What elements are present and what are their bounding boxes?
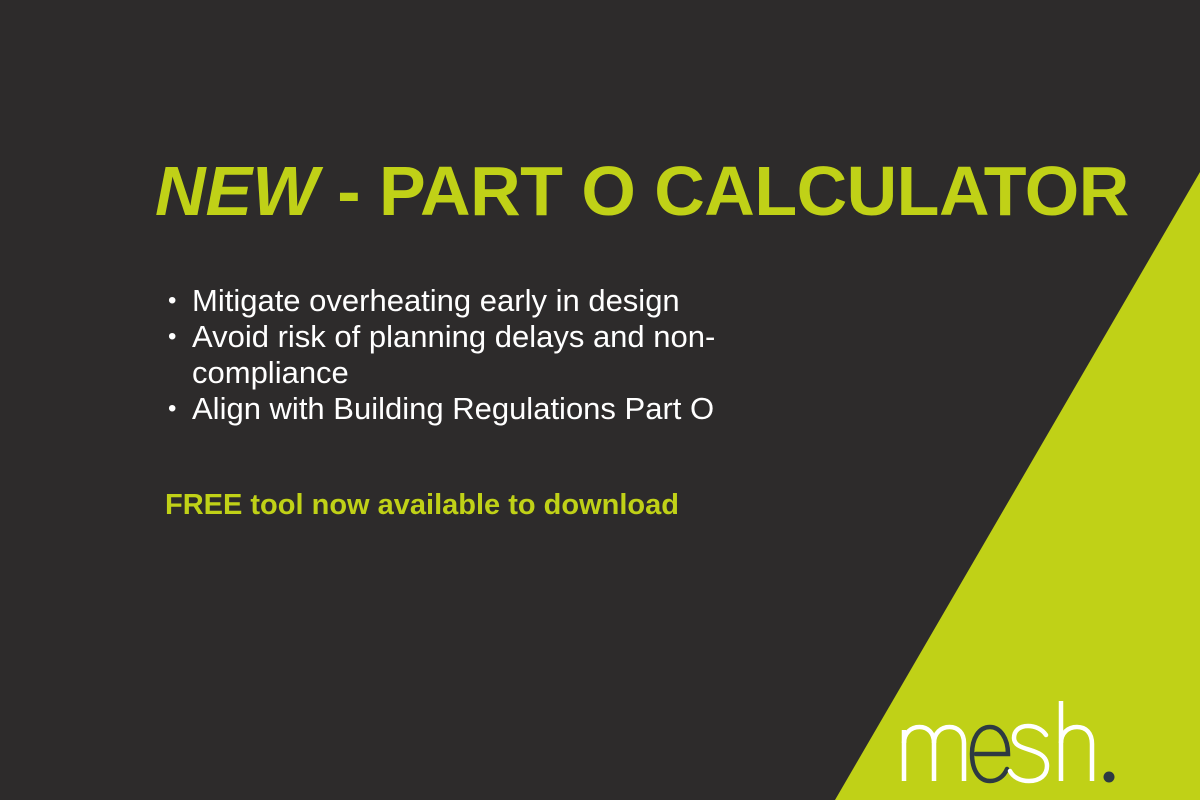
logo-period <box>1104 772 1115 783</box>
list-item: Avoid risk of planning delays and non-co… <box>166 319 806 391</box>
list-item: Align with Building Regulations Part O <box>166 391 806 427</box>
headline-emphasis: NEW <box>155 152 318 230</box>
logo-letter-h <box>1061 701 1092 781</box>
headline-rest: - PART O CALCULATOR <box>318 152 1128 230</box>
logo-letter-s <box>1010 726 1047 781</box>
cta-text[interactable]: FREE tool now available to download <box>165 487 679 523</box>
logo-letter-m <box>904 727 964 781</box>
logo-letter-e <box>972 727 1008 781</box>
mesh-logo <box>898 697 1148 787</box>
list-item: Mitigate overheating early in design <box>166 283 806 319</box>
page-title: NEW - PART O CALCULATOR <box>155 151 1129 231</box>
promo-banner: NEW - PART O CALCULATOR Mitigate overhea… <box>0 0 1200 800</box>
benefits-list: Mitigate overheating early in design Avo… <box>166 283 806 427</box>
